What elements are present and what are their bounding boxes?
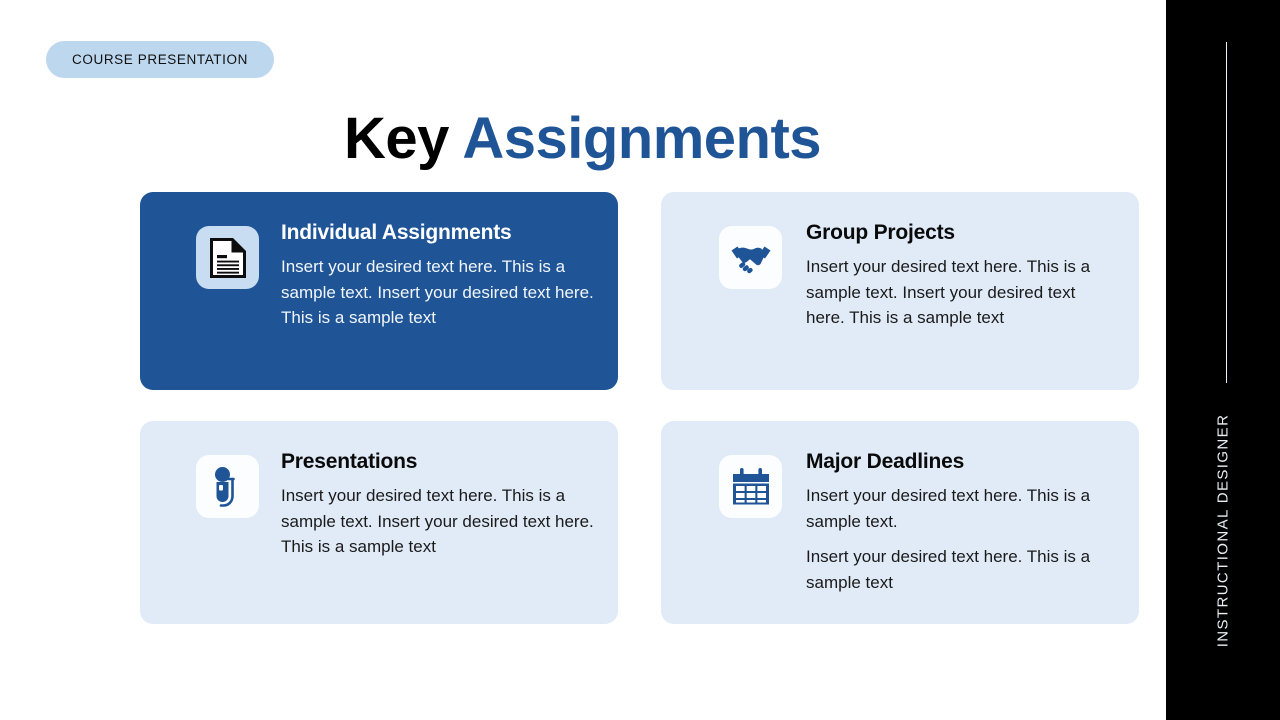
side-rail: INSTRUCTIONAL DESIGNER — [1166, 0, 1280, 720]
card-major-deadlines[interactable]: Major Deadlines Insert your desired text… — [661, 421, 1139, 624]
handshake-icon — [719, 226, 782, 289]
rail-label: INSTRUCTIONAL DESIGNER — [1166, 392, 1280, 682]
page-title-part1: Key — [344, 106, 449, 171]
rail-label-text: INSTRUCTIONAL DESIGNER — [1215, 414, 1232, 648]
rail-divider-line — [1226, 42, 1227, 383]
calendar-icon — [719, 455, 782, 518]
slide-canvas: COURSE PRESENTATION Key Assignments — [0, 0, 1280, 720]
card-individual-assignments[interactable]: Individual Assignments Insert your desir… — [140, 192, 618, 390]
assignments-grid: Individual Assignments Insert your desir… — [140, 192, 1139, 624]
document-icon — [196, 226, 259, 289]
category-badge: COURSE PRESENTATION — [46, 41, 274, 78]
card-title: Group Projects — [806, 220, 1117, 245]
card-text: Insert your desired text here. This is a… — [281, 483, 596, 560]
card-presentations[interactable]: Presentations Insert your desired text h… — [140, 421, 618, 624]
card-body: Individual Assignments Insert your desir… — [259, 214, 596, 372]
page-title: Key Assignments — [0, 107, 1165, 171]
card-body: Presentations Insert your desired text h… — [259, 443, 596, 606]
card-title: Presentations — [281, 449, 596, 474]
card-text: Insert your desired text here. This is a… — [281, 254, 596, 331]
card-body: Major Deadlines Insert your desired text… — [782, 443, 1117, 606]
page-title-part2: Assignments — [462, 106, 821, 171]
category-badge-label: COURSE PRESENTATION — [72, 52, 248, 67]
card-body: Group Projects Insert your desired text … — [782, 214, 1117, 372]
card-text: Insert your desired text here. This is a… — [806, 544, 1117, 595]
microphone-icon — [196, 455, 259, 518]
card-title: Major Deadlines — [806, 449, 1117, 474]
card-title: Individual Assignments — [281, 220, 596, 245]
card-text: Insert your desired text here. This is a… — [806, 483, 1117, 534]
card-group-projects[interactable]: Group Projects Insert your desired text … — [661, 192, 1139, 390]
card-text: Insert your desired text here. This is a… — [806, 254, 1117, 331]
